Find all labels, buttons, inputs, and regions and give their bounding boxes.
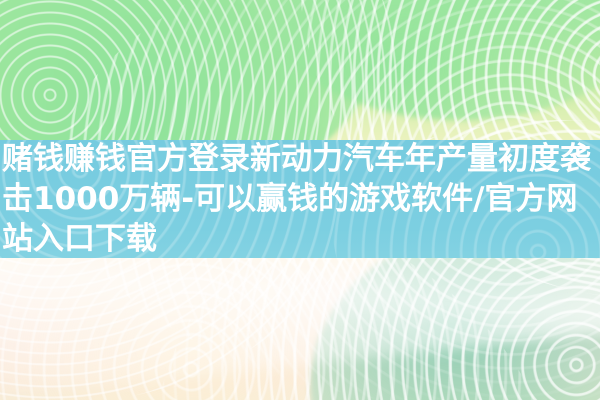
headline-text: 赌钱赚钱官方登录新动力汽车年产量初度袭击1000万辆-可以赢钱的游戏软件/官方网… <box>0 140 600 258</box>
banner-image: 赌钱赚钱官方登录新动力汽车年产量初度袭击1000万辆-可以赢钱的游戏软件/官方网… <box>0 0 600 400</box>
headline-band: 赌钱赚钱官方登录新动力汽车年产量初度袭击1000万辆-可以赢钱的游戏软件/官方网… <box>0 140 600 258</box>
